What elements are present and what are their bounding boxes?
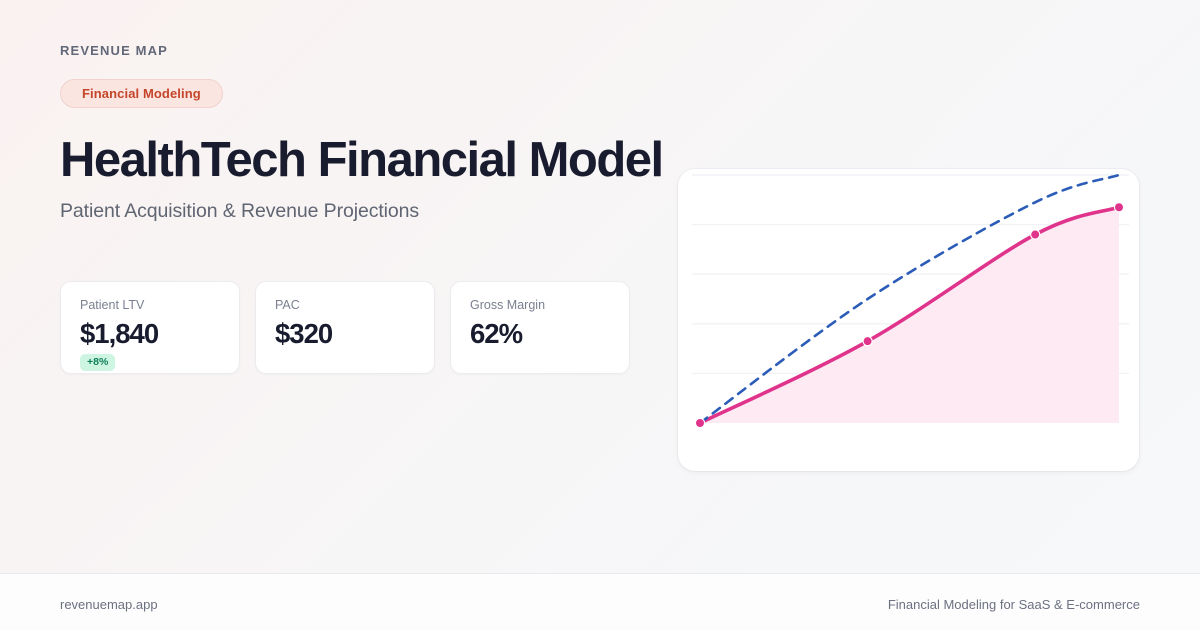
stat-label: Patient LTV	[80, 299, 222, 312]
stat-value: $1,840	[80, 319, 222, 349]
footer-divider	[0, 573, 1200, 574]
revenue-line-chart	[678, 169, 1139, 471]
page-title: HealthTech Financial Model	[60, 135, 660, 187]
poster-canvas: REVENUE MAP Financial Modeling HealthTec…	[0, 0, 1200, 630]
footer-site-label: revenuemap.app	[60, 598, 158, 611]
revenue-chart-card	[678, 169, 1139, 471]
stat-value: 62%	[470, 319, 612, 349]
stat-label: Gross Margin	[470, 299, 612, 312]
footer-tagline: Financial Modeling for SaaS & E-commerce	[888, 598, 1140, 611]
stat-card-pac: PAC $320	[255, 281, 435, 374]
page-subtitle: Patient Acquisition & Revenue Projection…	[60, 200, 660, 223]
header-block: REVENUE MAP Financial Modeling HealthTec…	[60, 44, 660, 223]
stat-card-group: Patient LTV $1,840 +8% PAC $320 Gross Ma…	[60, 281, 630, 374]
brand-eyebrow: REVENUE MAP	[60, 44, 660, 57]
stat-card-patient-ltv: Patient LTV $1,840 +8%	[60, 281, 240, 374]
stat-delta-badge: +8%	[80, 354, 115, 371]
stat-label: PAC	[275, 299, 417, 312]
stat-value: $320	[275, 319, 417, 349]
stat-card-gross-margin: Gross Margin 62%	[450, 281, 630, 374]
category-badge: Financial Modeling	[60, 79, 223, 108]
